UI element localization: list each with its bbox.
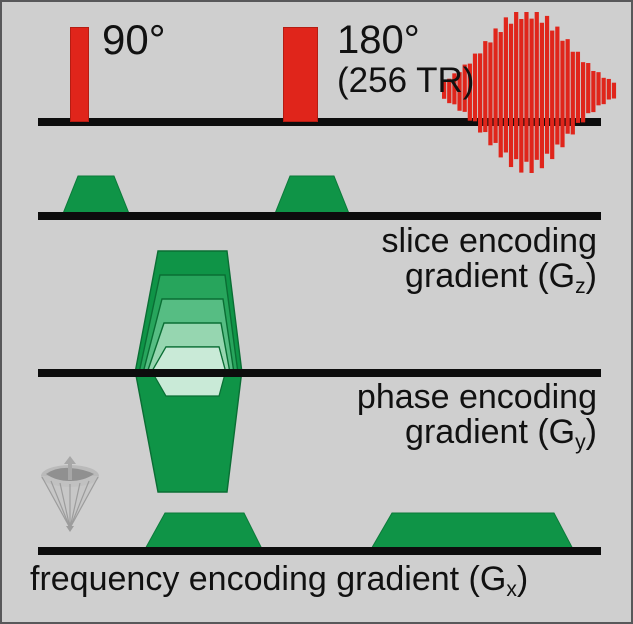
phase-step-up-2 <box>147 323 230 373</box>
slice-gradient-lobes <box>62 176 350 216</box>
rf-pulse-90-degree <box>70 27 89 122</box>
slice-baseline <box>38 212 601 220</box>
frequency-gradient-label: frequency encoding gradient (Gx) <box>30 562 528 601</box>
phase-step-down-2 <box>147 370 230 420</box>
frequency-dephase-lobe <box>144 513 263 551</box>
frequency-baseline <box>38 547 601 555</box>
slice-gradient-label: slice encoding gradient (Gz) <box>382 224 597 298</box>
pulse-sequence-figure: 90° 180° (256 TR) slice encoding gradien… <box>0 0 633 624</box>
phase-label-line1: phase encoding <box>357 378 597 416</box>
phase-step-up-5 <box>135 251 242 373</box>
slice-label-prefix: gradient (G <box>405 257 575 295</box>
rf-pulse-180-degree <box>283 27 318 122</box>
phase-step-down-5 <box>135 370 242 492</box>
phase-step-up-3 <box>143 299 234 373</box>
rf-90-label: 90° <box>102 18 166 63</box>
rf-180-label: 180° <box>337 19 420 61</box>
slice-axis-subscript: z <box>575 275 586 298</box>
slice-excite-lobe <box>62 176 130 216</box>
phase-label-line2: gradient (Gy) <box>357 415 597 454</box>
phase-step-down-3 <box>143 370 234 444</box>
frequency-label-suffix: ) <box>517 560 528 598</box>
phase-baseline <box>38 369 601 377</box>
spin-echo-signal <box>442 12 617 202</box>
frequency-axis-subscript: x <box>506 578 517 601</box>
slice-label-line1: slice encoding <box>382 222 597 260</box>
frequency-gradient-lobes <box>144 513 574 551</box>
rf-tr-label: (256 TR) <box>337 62 474 99</box>
frequency-label-prefix: frequency encoding gradient (G <box>30 560 506 598</box>
frequency-readout-lobe <box>370 513 574 551</box>
phase-label-prefix: gradient (G <box>405 413 575 451</box>
phase-label-suffix: ) <box>586 413 597 451</box>
phase-step-up-4 <box>139 275 238 373</box>
phase-gradient-label: phase encoding gradient (Gy) <box>357 380 597 454</box>
slice-label-suffix: ) <box>586 257 597 295</box>
phase-step-down-4 <box>139 370 238 468</box>
slice-label-line2: gradient (Gz) <box>382 259 597 298</box>
phase-axis-subscript: y <box>575 431 586 454</box>
globe-watermark-icon <box>32 454 108 532</box>
slice-refocus-lobe <box>274 176 350 216</box>
